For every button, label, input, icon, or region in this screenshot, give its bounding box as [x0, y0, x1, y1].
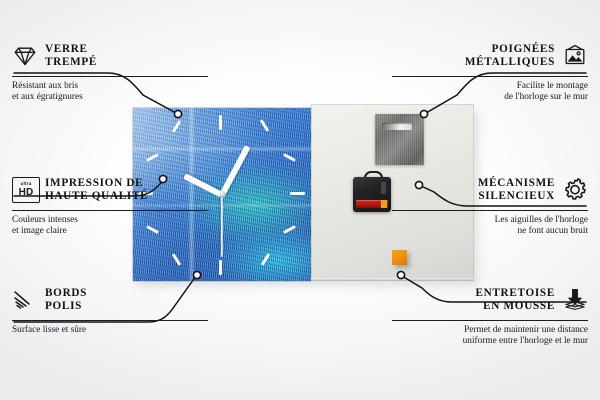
callout-description-line2: uniforme entre l'horloge et le mur [392, 336, 588, 347]
gear-icon [562, 177, 588, 203]
callout-header: BORDS POLIS [12, 282, 208, 318]
callout-divider [12, 320, 208, 321]
hanging-picture-frame-icon [562, 43, 588, 69]
callout-polished-edges: BORDS POLIS Surface lisse et sûre [12, 282, 208, 336]
polished-edge-lines-icon [12, 287, 38, 313]
callout-divider [392, 210, 588, 211]
mechanism-housing [353, 177, 391, 212]
clock-mechanism-module [353, 172, 391, 212]
callout-description-line1: Facilite le montage [392, 81, 588, 92]
callout-description-line1: Couleurs intenses [12, 215, 208, 226]
callout-title-line2: POLIS [45, 300, 87, 313]
callout-divider [392, 76, 588, 77]
callout-description-line2: et image claire [12, 226, 208, 237]
callout-title-line1: IMPRESSION DE [45, 177, 148, 190]
callout-description-line2: et aux égratignures [12, 92, 208, 103]
foam-spacer-pad [392, 250, 407, 265]
callout-title: BORDS POLIS [45, 287, 87, 313]
callout-title: POIGNÉES MÉTALLIQUES [465, 43, 555, 69]
callout-title-line1: POIGNÉES [465, 43, 555, 56]
callout-foam-spacer: ENTRETOISE EN MOUSSE Permet de maintenir… [392, 282, 588, 348]
callout-description-line1: Permet de maintenir une distance [392, 325, 588, 336]
callout-divider [392, 320, 588, 321]
mechanism-notch [381, 182, 386, 194]
infographic-canvas: VERRE TREMPÉ Résistant aux bris et aux é… [0, 0, 600, 400]
callout-description-line2: ne font aucun bruit [392, 226, 588, 237]
callout-metal-handles: POIGNÉES MÉTALLIQUES Facilite le montage… [392, 38, 588, 104]
diamond-icon [12, 43, 38, 69]
callout-description-line2: de l'horloge sur le mur [392, 92, 588, 103]
callout-print-quality: ultra HD IMPRESSION DE HAUTE QUALITÉ Cou… [12, 172, 208, 238]
arrow-down-onto-layers-icon [562, 287, 588, 313]
callout-title: MÉCANISME SILENCIEUX [478, 177, 555, 203]
ultra-hd-badge-icon: ultra HD [12, 177, 38, 203]
callout-title-line2: EN MOUSSE [475, 300, 555, 313]
callout-description-line1: Résistant aux bris [12, 81, 208, 92]
callout-header: ultra HD IMPRESSION DE HAUTE QUALITÉ [12, 172, 208, 208]
callout-description-line1: Surface lisse et sûre [12, 325, 208, 336]
callout-header: POIGNÉES MÉTALLIQUES [392, 38, 588, 74]
callout-silent-mechanism: MÉCANISME SILENCIEUX Les aiguilles de l'… [392, 172, 588, 238]
ultra-hd-badge-main-text: HD [19, 188, 34, 198]
battery-positive-terminal [381, 200, 387, 208]
callout-divider [12, 76, 208, 77]
callout-title: VERRE TREMPÉ [45, 43, 97, 69]
callout-divider [12, 210, 208, 211]
battery [356, 200, 388, 208]
callout-tempered-glass: VERRE TREMPÉ Résistant aux bris et aux é… [12, 38, 208, 104]
callout-title-line2: TREMPÉ [45, 56, 97, 69]
callout-header: VERRE TREMPÉ [12, 38, 208, 74]
callout-title-line2: HAUTE QUALITÉ [45, 190, 148, 203]
metal-hanger-plate [375, 114, 424, 165]
callout-title-line1: VERRE [45, 43, 97, 56]
callout-title-line2: MÉTALLIQUES [465, 56, 555, 69]
callout-title-line1: BORDS [45, 287, 87, 300]
callout-header: MÉCANISME SILENCIEUX [392, 172, 588, 208]
callout-header: ENTRETOISE EN MOUSSE [392, 282, 588, 318]
callout-title-line2: SILENCIEUX [478, 190, 555, 203]
callout-title: ENTRETOISE EN MOUSSE [475, 287, 555, 313]
panel-bottom-edge [311, 278, 474, 281]
callout-title-line1: ENTRETOISE [475, 287, 555, 300]
callout-title: IMPRESSION DE HAUTE QUALITÉ [45, 177, 148, 203]
hanger-slot [382, 123, 412, 130]
callout-title-line1: MÉCANISME [478, 177, 555, 190]
callout-description-line1: Les aiguilles de l'horloge [392, 215, 588, 226]
